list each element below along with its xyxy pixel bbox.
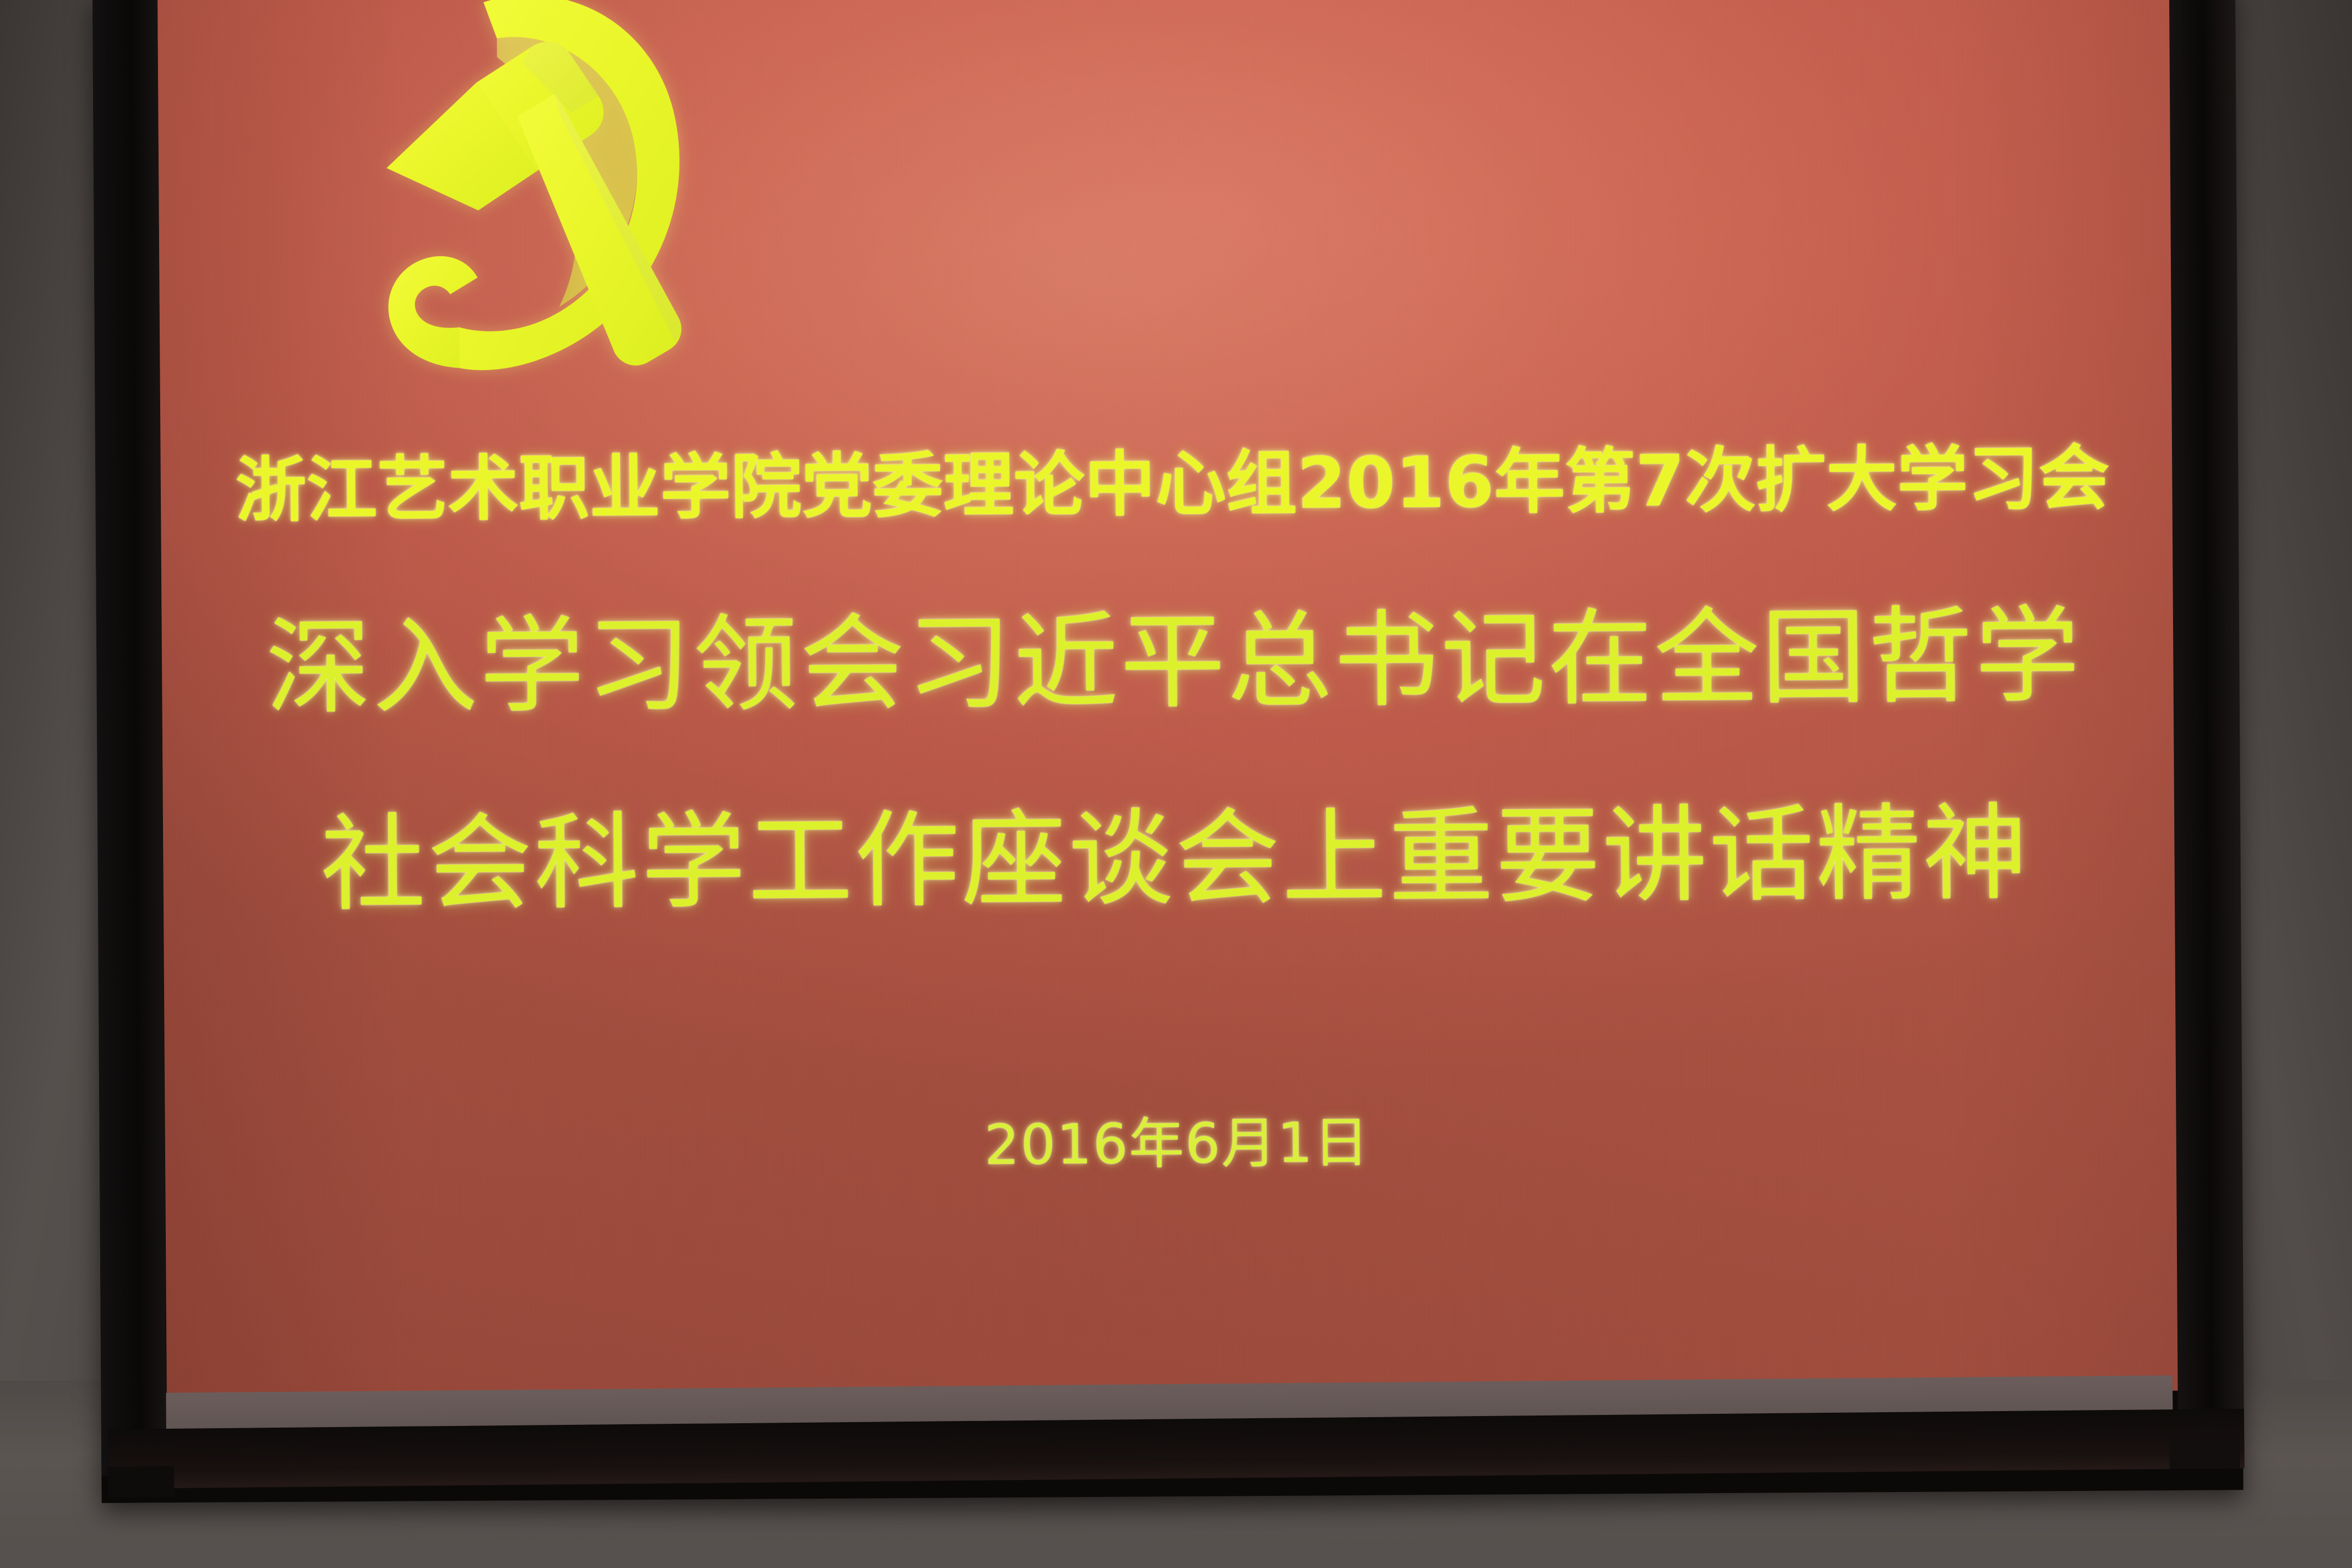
slide-heading-line-1: 深入学习领会习近平总书记在全国哲学 [161, 570, 2186, 735]
screen-frame-right [2169, 0, 2244, 1458]
projector-screen-photo: 浙江艺术职业学院党委理论中心组2016年第7次扩大学习会 深入学习领会习近平总书… [0, 0, 2352, 1568]
screen-frame-left [92, 0, 166, 1476]
screen-foot-right [2169, 1436, 2240, 1469]
screen-foot-left [108, 1466, 175, 1498]
projected-slide: 浙江艺术职业学院党委理论中心组2016年第7次扩大学习会 深入学习领会习近平总书… [157, 0, 2191, 1404]
slide-text-block: 浙江艺术职业学院党委理论中心组2016年第7次扩大学习会 深入学习领会习近平总书… [157, 0, 2191, 1404]
slide-subtitle: 浙江艺术职业学院党委理论中心组2016年第7次扩大学习会 [160, 421, 2185, 536]
slide-date: 2016年6月1日 [165, 1092, 2189, 1185]
slide-heading-line-2: 社会科学工作座谈会上重要讲话精神 [162, 767, 2187, 932]
